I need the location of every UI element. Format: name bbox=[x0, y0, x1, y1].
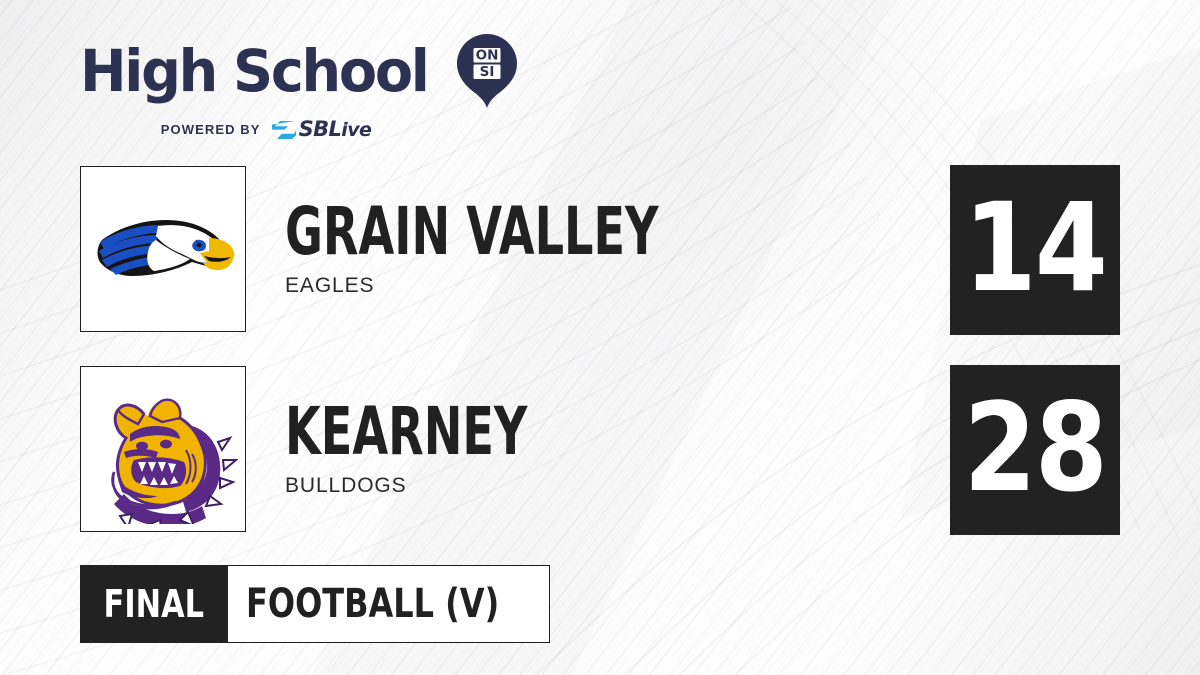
bulldog-head-logo bbox=[88, 374, 238, 524]
on-si-pin-icon: ON SI bbox=[456, 32, 518, 110]
score-box-away: 28 bbox=[950, 365, 1120, 535]
sblive-logo: SBLive bbox=[271, 119, 372, 140]
team-name-home: GRAIN VALLEY bbox=[285, 200, 719, 265]
svg-text:SI: SI bbox=[480, 64, 495, 80]
team-logo-box-away bbox=[80, 366, 246, 532]
brand-logo: High School ON SI POWERED BY SBLive bbox=[80, 32, 510, 140]
team-mascot-home: EAGLES bbox=[285, 274, 905, 298]
brand-title: High School bbox=[80, 42, 428, 100]
svg-text:ON: ON bbox=[476, 48, 499, 64]
team-text-home: GRAIN VALLEY EAGLES bbox=[285, 200, 905, 298]
sblive-wordmark: SBLive bbox=[299, 119, 372, 140]
powered-by-row: POWERED BY SBLive bbox=[86, 119, 446, 140]
team-text-away: KEARNEY BULLDOGS bbox=[285, 400, 905, 498]
team-name-away: KEARNEY bbox=[285, 400, 719, 465]
brand-logo-row: High School ON SI bbox=[80, 32, 510, 110]
team-logo-box-home bbox=[80, 166, 246, 332]
score-box-home: 14 bbox=[950, 165, 1120, 335]
eagle-head-logo bbox=[88, 174, 238, 324]
powered-by-label: POWERED BY bbox=[161, 122, 261, 137]
score-value-away: 28 bbox=[964, 387, 1107, 509]
game-status-label: FINAL bbox=[104, 582, 204, 626]
sport-label: FOOTBALL (V) bbox=[246, 581, 499, 627]
sblive-s-icon bbox=[271, 120, 297, 140]
status-bar: FINAL FOOTBALL (V) bbox=[80, 565, 550, 643]
score-value-home: 14 bbox=[964, 187, 1107, 309]
scoreboard-graphic: High School ON SI POWERED BY SBLive bbox=[0, 0, 1200, 675]
team-mascot-away: BULLDOGS bbox=[285, 474, 905, 498]
game-status-badge: FINAL bbox=[80, 565, 228, 643]
sport-label-panel: FOOTBALL (V) bbox=[228, 565, 550, 643]
